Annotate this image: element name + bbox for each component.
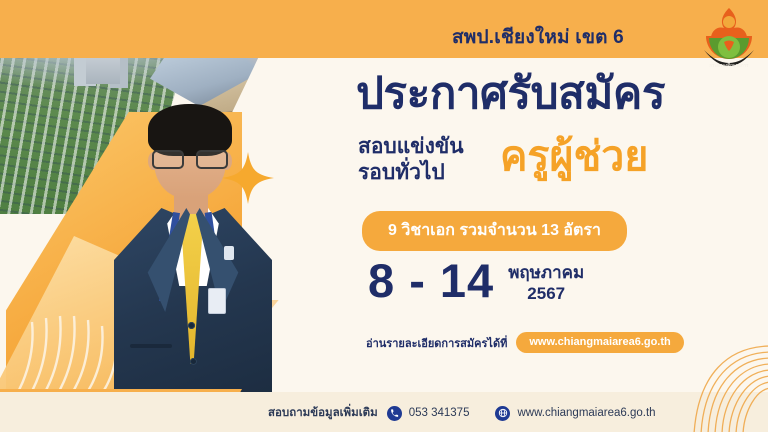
subtitle-line-1: สอบแข่งขัน [358, 134, 464, 160]
month-label: พฤษภาคม [508, 264, 584, 283]
footer-contact-label: สอบถามข้อมูลเพิ่มเติม [268, 404, 378, 422]
globe-icon [495, 406, 510, 421]
id-badge [208, 288, 226, 314]
arc-lines-decoration [660, 338, 768, 432]
subtitle-line-2: รอบทั่วไป [358, 160, 464, 186]
page-title: ประกาศรับสมัคร [356, 72, 665, 116]
photo-collage [0, 0, 372, 432]
ministry-of-education-emblem-icon: กระทรวงศึกษาธิการ [698, 6, 760, 80]
phone-icon [387, 406, 402, 421]
footer-contact-row: สอบถามข้อมูลเพิ่มเติม 053 341375 www.chi… [268, 404, 656, 422]
read-details-row: อ่านรายละเอียดการสมัครได้ที่ www.chiangm… [366, 332, 684, 353]
sparkle-icon [222, 152, 274, 204]
suit-button [190, 358, 197, 365]
footer-website[interactable]: www.chiangmaiarea6.go.th [517, 407, 655, 419]
lapel-pin [224, 246, 234, 260]
subtitle-block: สอบแข่งขัน รอบทั่วไป [358, 134, 464, 185]
suit-pocket [130, 344, 172, 348]
read-details-label: อ่านรายละเอียดการสมัครได้ที่ [366, 334, 507, 352]
top-orange-band [0, 0, 768, 58]
poster-canvas: สพป.เชียงใหม่ เขต 6 กระทรวงศึกษาธิการ ปร… [0, 0, 768, 432]
year-label: 2567 [508, 283, 584, 306]
month-year-block: พฤษภาคม 2567 [508, 258, 584, 306]
hair [148, 104, 232, 156]
details-website-link[interactable]: www.chiangmaiarea6.go.th [516, 332, 683, 353]
organization-title: สพป.เชียงใหม่ เขต 6 [452, 22, 624, 52]
svg-text:กระทรวงศึกษาธิการ: กระทรวงศึกษาธิการ [709, 63, 749, 68]
eyeglasses [152, 150, 228, 169]
date-range: 8 - 14 [368, 258, 494, 304]
footer-phone-number[interactable]: 053 341375 [409, 407, 470, 419]
majors-count-badge: 9 วิชาเอก รวมจำนวน 13 อัตรา [362, 211, 627, 251]
application-date-block: 8 - 14 พฤษภาคม 2567 [368, 258, 584, 306]
suit-button [188, 322, 195, 329]
position-highlight: ครูผู้ช่วย [500, 136, 648, 177]
